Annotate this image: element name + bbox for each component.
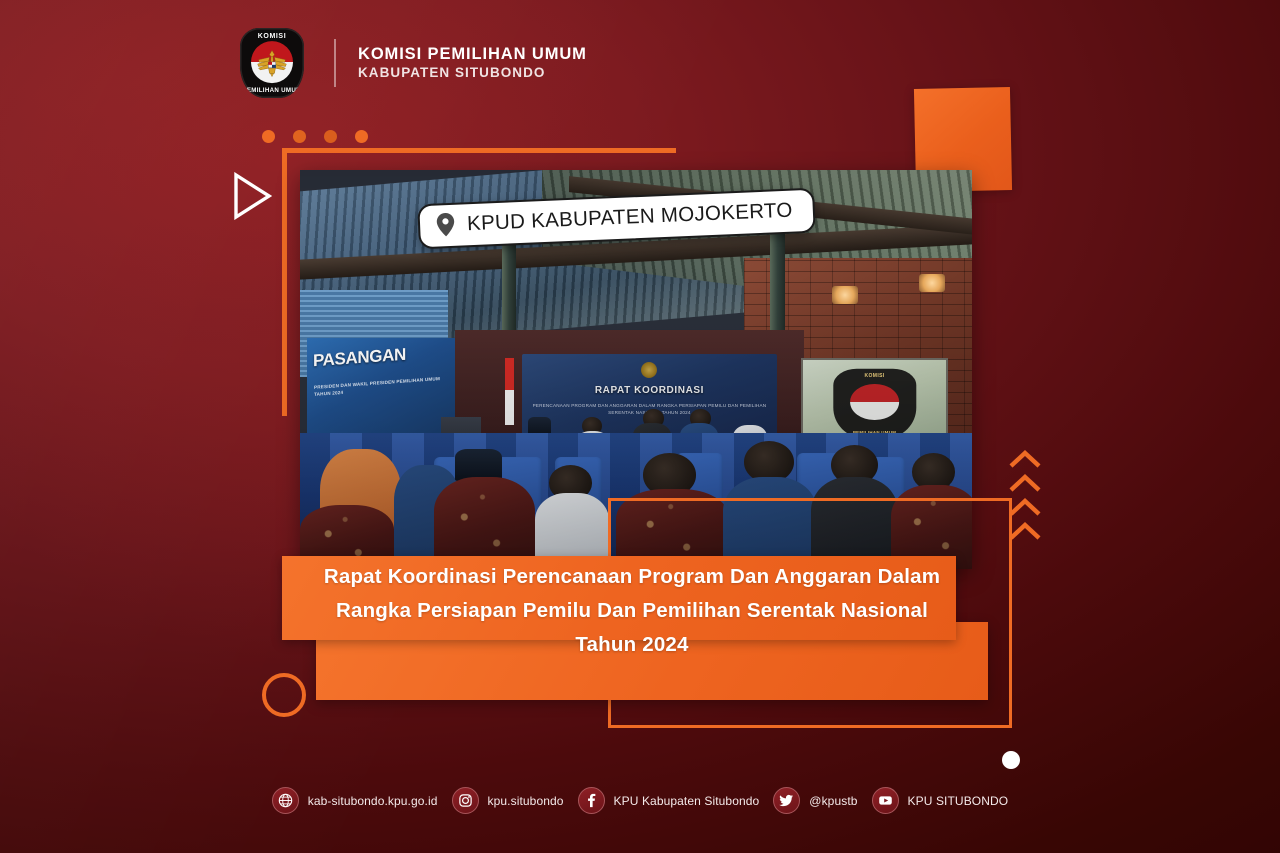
youtube-icon [872,787,899,814]
photo-indonesian-flag [505,358,514,426]
footer-label-youtube: KPU SITUBONDO [908,794,1009,808]
chevron-up-icon [1008,472,1042,494]
photo-backdrop-title: RAPAT KOORDINASI [522,385,777,396]
org-name-primary: KOMISI PEMILIHAN UMUM [358,45,587,64]
photo-screen-logo-disc [850,384,898,420]
decor-circle-outline [262,673,306,717]
poster-canvas: KOMISI [0,0,1280,853]
photo-left-banner-title: PASANGAN [313,345,406,371]
footer-label-website: kab-situbondo.kpu.go.id [308,794,438,808]
kpu-logo-top-word: KOMISI [240,33,304,40]
photo-lamp [832,286,858,304]
decor-dot [293,130,306,143]
decor-chevron-stack [1008,448,1042,542]
photo-screen-kpu-logo: KOMISI PEMILIHAN UMUM [833,369,916,437]
footer-item-instagram[interactable]: kpu.situbondo [452,787,564,814]
twitter-icon [773,787,800,814]
location-badge-label: KPUD KABUPATEN MOJOKERTO [467,198,794,236]
chevron-up-icon [1008,496,1042,518]
photo-left-banner-subtitle: PRESIDEN DAN WAKIL PRESIDEN PEMILIHAN UM… [314,374,454,398]
event-title: Rapat Koordinasi Perencanaan Program Dan… [282,560,982,662]
photo-lamp [919,274,945,292]
footer-label-instagram: kpu.situbondo [488,794,564,808]
chevron-up-icon [1008,520,1042,542]
photo-backdrop-emblem [641,362,657,378]
kpu-logo-bottom-word: PEMILIHAN UMUM [240,87,304,94]
decor-dot-row [262,130,368,143]
kpu-logo-shield: KOMISI [240,28,304,98]
decor-dot [262,130,275,143]
photo-left-banner: PASANGAN PRESIDEN DAN WAKIL PRESIDEN PEM… [307,338,455,442]
header-divider [334,39,336,87]
footer-item-website[interactable]: kab-situbondo.kpu.go.id [272,787,438,814]
footer-label-twitter: @kpustb [809,794,857,808]
photo-screen-logo-top-word: KOMISI [833,373,916,379]
decor-white-dot [1002,751,1020,769]
decor-dot [355,130,368,143]
play-triangle-icon [232,172,272,220]
map-pin-icon [436,212,456,238]
header: KOMISI [236,26,587,100]
instagram-icon [452,787,479,814]
header-title-group: KOMISI PEMILIHAN UMUM KABUPATEN SITUBOND… [358,45,587,80]
kpu-logo-disc [251,41,293,83]
social-footer: kab-situbondo.kpu.go.id kpu.situbondo KP… [0,787,1280,814]
facebook-icon [578,787,605,814]
event-title-line-2: Rangka Persiapan Pemilu Dan Pemilihan Se… [282,594,982,628]
footer-item-twitter[interactable]: @kpustb [773,787,857,814]
decor-dot [324,130,337,143]
footer-item-facebook[interactable]: KPU Kabupaten Situbondo [578,787,760,814]
globe-icon [272,787,299,814]
footer-label-facebook: KPU Kabupaten Situbondo [614,794,760,808]
event-title-line-1: Rapat Koordinasi Perencanaan Program Dan… [282,560,982,594]
footer-item-youtube[interactable]: KPU SITUBONDO [872,787,1009,814]
org-name-secondary: KABUPATEN SITUBONDO [358,65,587,81]
event-title-line-3: Tahun 2024 [282,628,982,662]
chevron-up-icon [1008,448,1042,470]
kpu-logo: KOMISI [236,26,308,100]
garuda-emblem-icon [255,47,289,79]
